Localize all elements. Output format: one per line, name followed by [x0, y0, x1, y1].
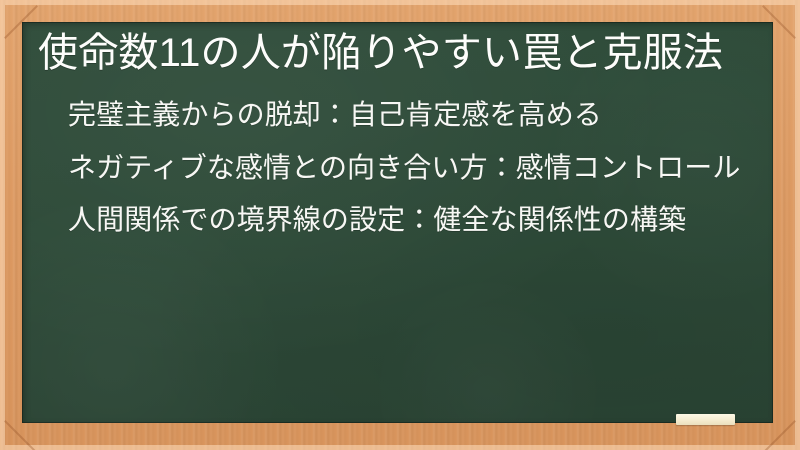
chalkboard-slide: 使命数11の人が陥りやすい罠と克服法 完璧主義からの脱却：自己肯定感を高める ネ… — [0, 0, 800, 450]
frame-miter-bottom-left — [4, 420, 38, 450]
slide-title: 使命数11の人が陥りやすい罠と克服法 — [30, 30, 755, 76]
chalk-stick-icon — [676, 414, 735, 425]
chalkboard-surface: 使命数11の人が陥りやすい罠と克服法 完璧主義からの脱却：自己肯定感を高める ネ… — [22, 22, 773, 423]
list-item: 完璧主義からの脱却：自己肯定感を高める — [68, 94, 755, 137]
chalkboard-content: 使命数11の人が陥りやすい罠と克服法 完璧主義からの脱却：自己肯定感を高める ネ… — [22, 22, 773, 242]
list-item: ネガティブな感情との向き合い方：感情コントロール — [68, 147, 755, 190]
list-item: 人間関係での境界線の設定：健全な関係性の構築 — [68, 199, 755, 242]
frame-miter-bottom-right — [762, 420, 796, 450]
slide-bullet-list: 完璧主義からの脱却：自己肯定感を高める ネガティブな感情との向き合い方：感情コン… — [30, 94, 755, 242]
